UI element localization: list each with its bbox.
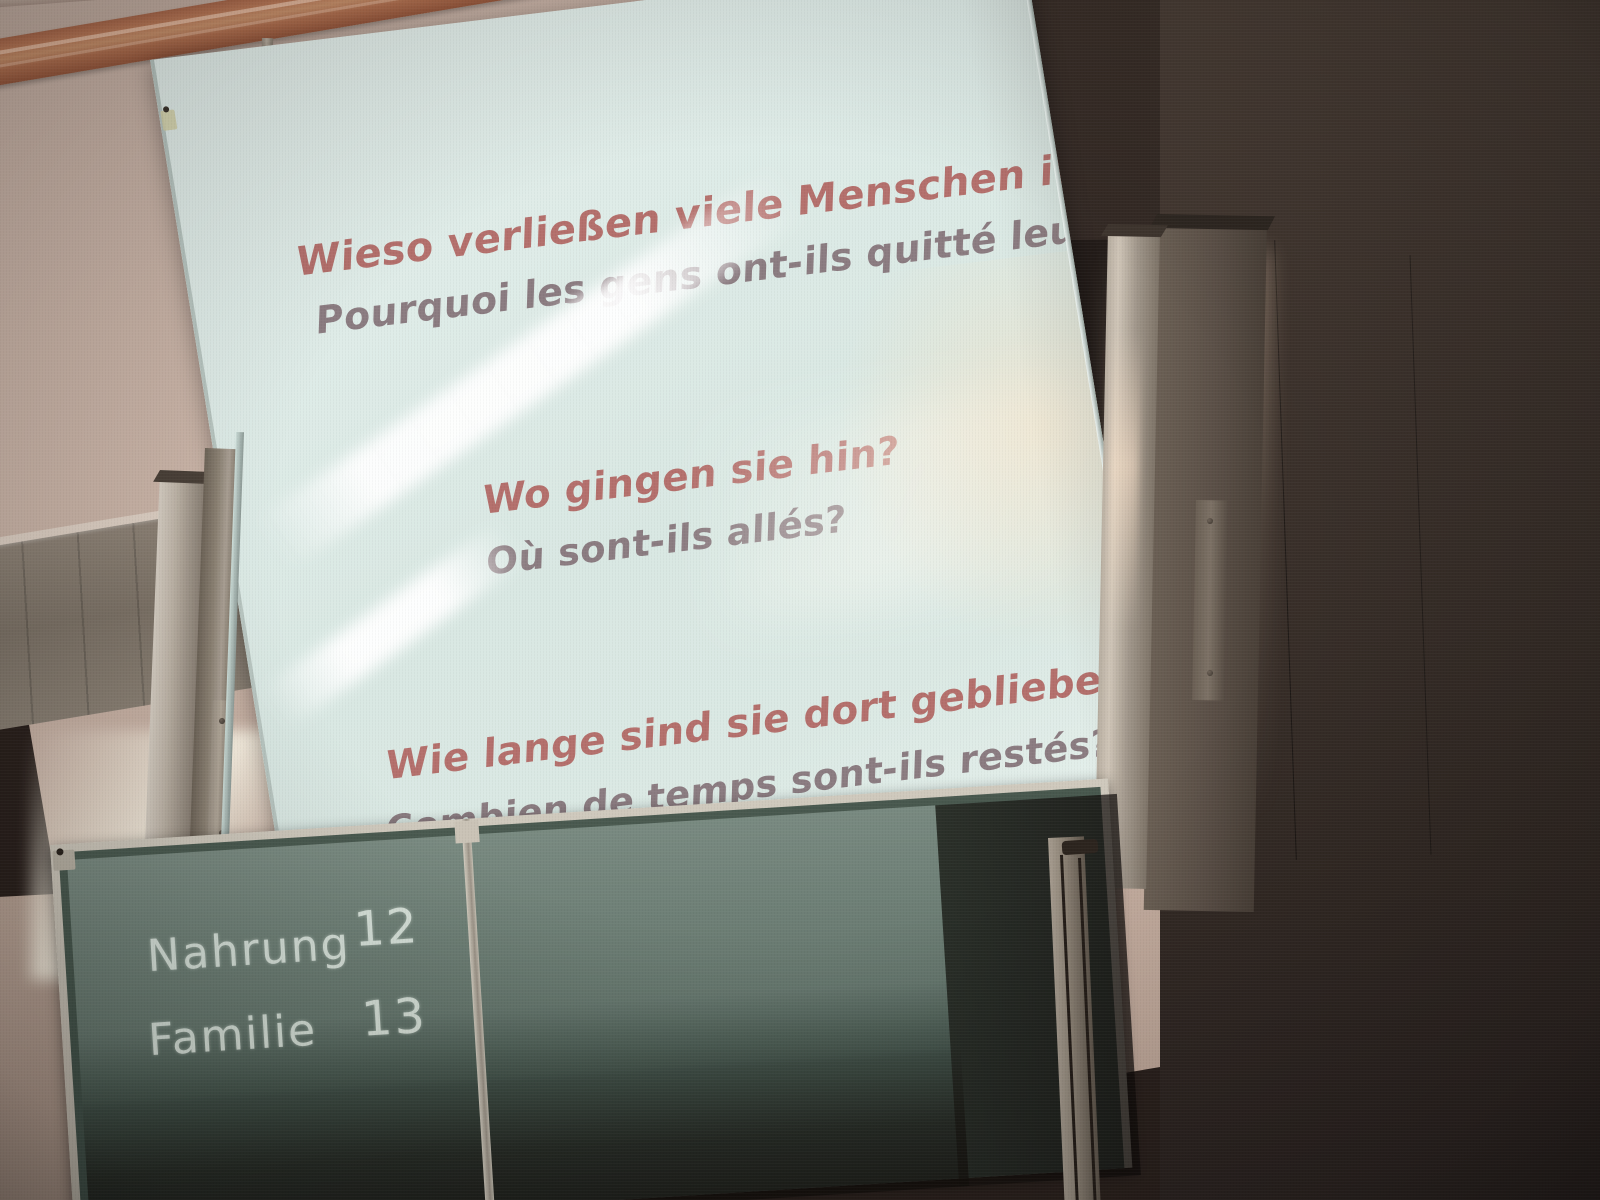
classroom-photo-scene: Wieso verließen viele Menschen ihre Heim…	[0, 0, 1600, 1200]
chalk-row-value-familie: 13	[360, 988, 428, 1048]
chalkboard-divider-cap	[454, 820, 479, 843]
chalkboard-post-clip	[1062, 839, 1099, 855]
mounting-screw-upper-right	[1207, 518, 1213, 524]
mounting-screw-upper-left	[219, 718, 225, 724]
right-support-post-cap	[1101, 224, 1168, 237]
right-post-highlight	[1106, 330, 1142, 631]
mounting-screw-lower-right	[1207, 670, 1213, 676]
chalkboard-surface: Nahrung 12 Familie 13	[58, 787, 1124, 1200]
chalk-row-label-familie: Familie	[147, 1005, 319, 1067]
chalkboard-shadow-bottom	[82, 1046, 969, 1200]
projection-screen: Wieso verließen viele Menschen ihre Heim…	[150, 0, 1162, 909]
right-wall-post-cap	[1150, 214, 1275, 230]
chalk-row-label-nahrung: Nahrung	[146, 918, 352, 982]
chalkboard-frame: Nahrung 12 Familie 13	[50, 778, 1132, 1200]
screen-corner-bracket	[160, 109, 177, 130]
chalk-row-value-nahrung: 12	[352, 898, 420, 958]
chalkboard-assembly: Nahrung 12 Familie 13	[50, 777, 1153, 1200]
chalkboard-shadow-right	[935, 794, 1141, 1187]
